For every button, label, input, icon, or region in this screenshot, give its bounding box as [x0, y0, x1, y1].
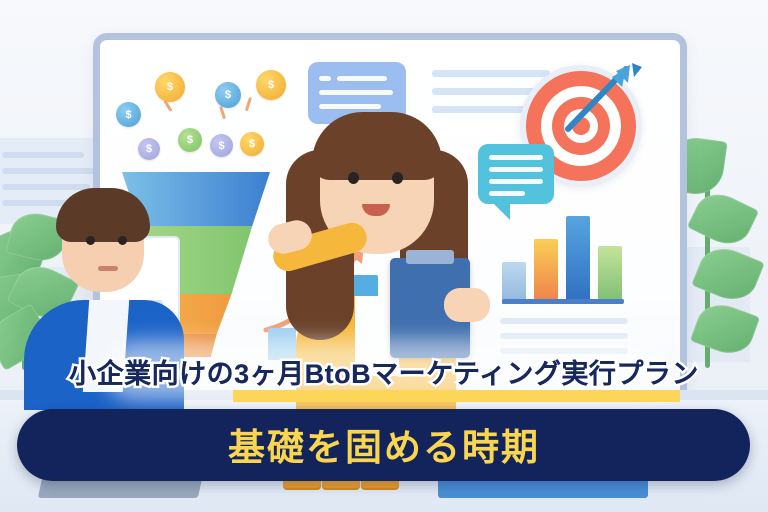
page-title: 小企業向けの3ヶ月BtoBマーケティング実行プラン — [0, 352, 768, 391]
stats-bar-chart — [502, 216, 624, 304]
dart-arrow-icon — [550, 53, 646, 149]
hand — [444, 288, 490, 322]
laptop-left — [38, 478, 202, 498]
title-underline — [233, 390, 680, 402]
chat-bubble-teal-icon — [478, 144, 554, 204]
subtitle-text: 基礎を固める時期 — [0, 417, 768, 471]
hero-banner: $ $ $ $ $ $ $ $ — [0, 0, 768, 512]
